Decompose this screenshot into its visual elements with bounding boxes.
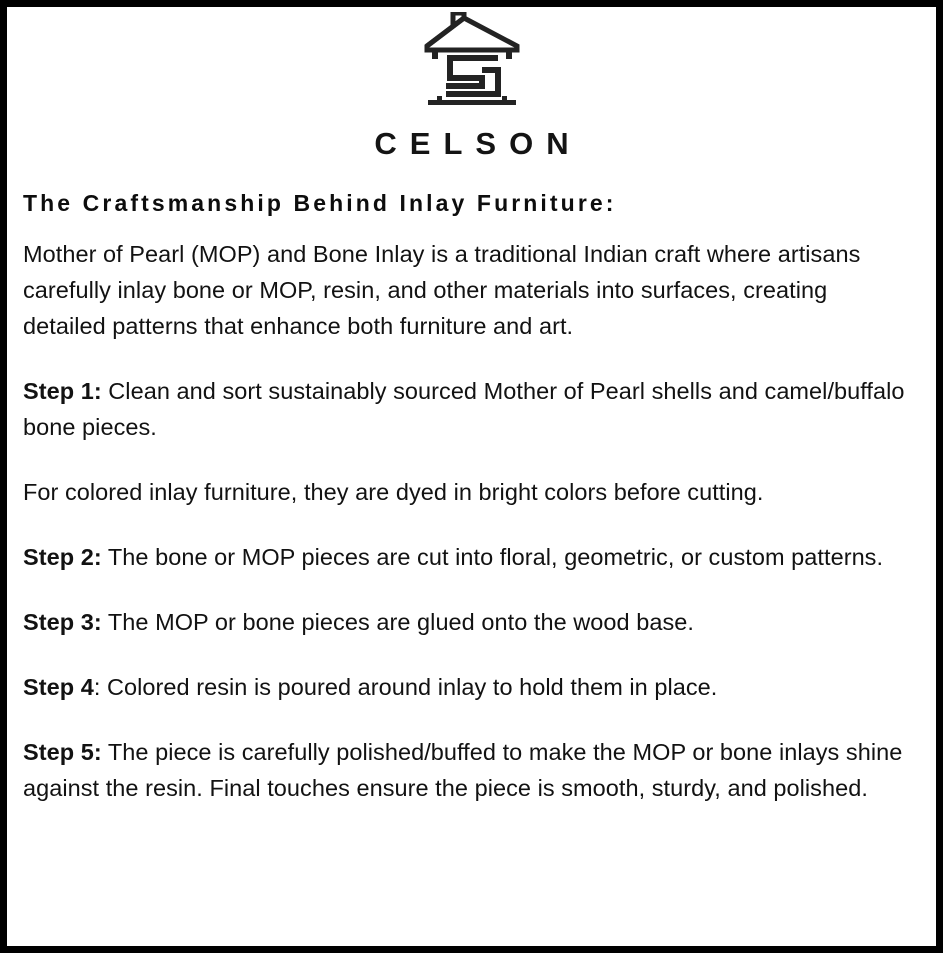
step-3-text: The MOP or bone pieces are glued onto th…	[102, 609, 694, 635]
step-4-text: : Colored resin is poured around inlay t…	[94, 674, 718, 700]
step-1-text: Clean and sort sustainably sourced Mothe…	[23, 378, 905, 440]
step-5-paragraph: Step 5: The piece is carefully polished/…	[23, 734, 907, 806]
intro-paragraph: Mother of Pearl (MOP) and Bone Inlay is …	[23, 236, 903, 344]
step-5-text: The piece is carefully polished/buffed t…	[23, 739, 902, 801]
step-3-label: Step 3:	[23, 609, 102, 635]
step-2-paragraph: Step 2: The bone or MOP pieces are cut i…	[23, 539, 907, 575]
page-title: The Craftsmanship Behind Inlay Furniture…	[23, 190, 936, 218]
step-1-paragraph: Step 1: Clean and sort sustainably sourc…	[23, 373, 907, 445]
body-copy: Mother of Pearl (MOP) and Bone Inlay is …	[23, 218, 920, 806]
step-5-label: Step 5:	[23, 739, 102, 765]
step-3-paragraph: Step 3: The MOP or bone pieces are glued…	[23, 604, 907, 640]
step-4-label: Step 4	[23, 674, 94, 700]
step-2-text: The bone or MOP pieces are cut into flor…	[102, 544, 883, 570]
house-monogram-icon	[420, 12, 524, 112]
brand-block: CELSON	[7, 7, 936, 159]
step-2-label: Step 2:	[23, 544, 102, 570]
step-1-label: Step 1:	[23, 378, 102, 404]
brand-name: CELSON	[7, 128, 936, 159]
poster-card: CELSON The Craftsmanship Behind Inlay Fu…	[0, 0, 943, 953]
colored-inlay-note: For colored inlay furniture, they are dy…	[23, 474, 907, 510]
step-4-paragraph: Step 4: Colored resin is poured around i…	[23, 669, 907, 705]
